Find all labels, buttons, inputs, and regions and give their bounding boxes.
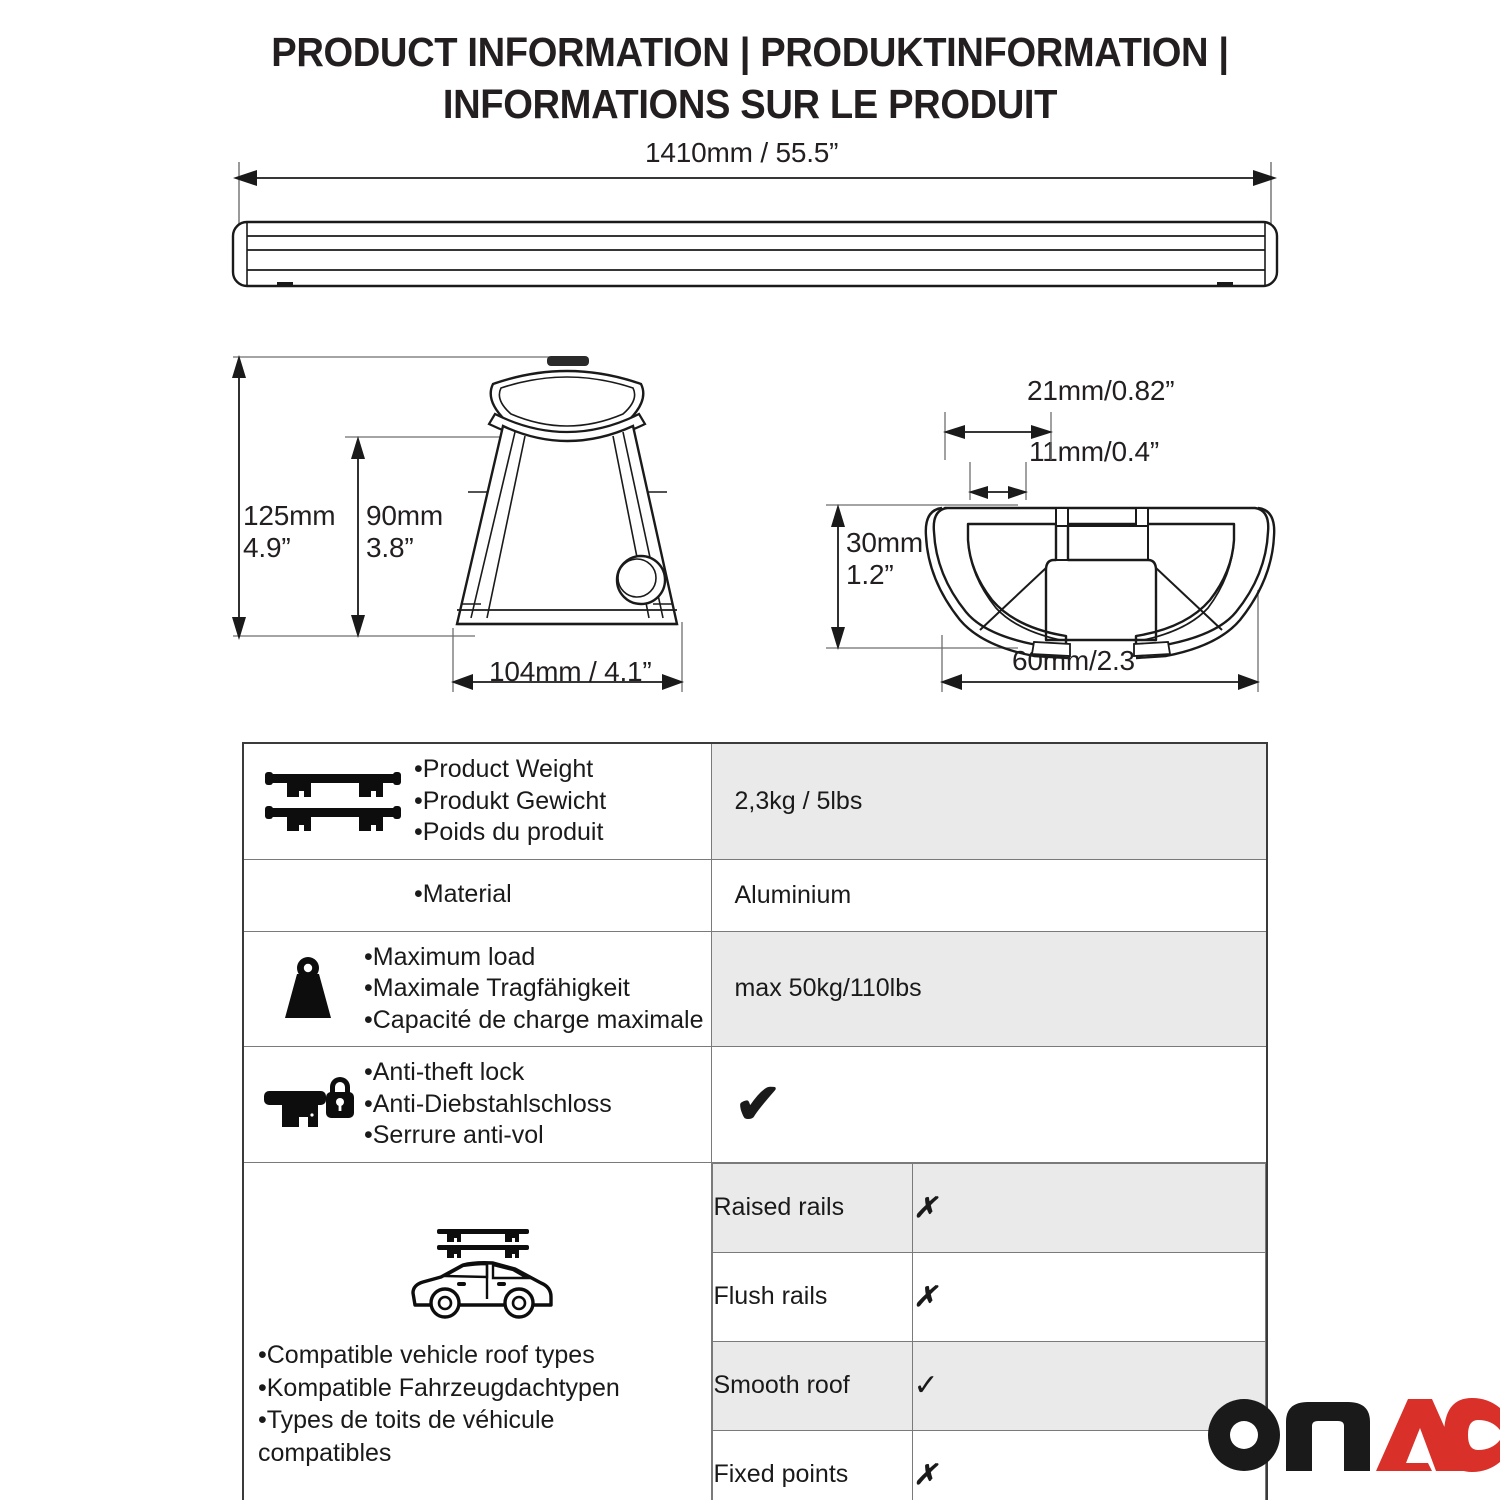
cross-icon: ✗ xyxy=(913,1192,936,1223)
roof-type-row-raised-rails: Raised rails ✗ xyxy=(713,1163,1266,1252)
checkmark-icon: ✓ xyxy=(913,1369,938,1402)
roof-type-label: Raised rails xyxy=(713,1163,913,1252)
roof-type-mark: ✗ xyxy=(913,1252,1266,1341)
cross-icon: ✗ xyxy=(913,1459,936,1490)
roof-bars-icon xyxy=(258,768,408,834)
label-line: •Serrure anti-vol xyxy=(364,1120,703,1152)
label-line: compatibles xyxy=(258,1437,620,1470)
product-spec-table: •Product Weight •Produkt Gewicht •Poids … xyxy=(242,742,1268,1500)
table-row: •Material Aluminium xyxy=(243,859,1267,931)
row-value-anti-theft-lock: ✔ xyxy=(712,1047,1267,1163)
label-line: •Product Weight xyxy=(414,754,703,786)
label-line: •Types de toits de véhicule xyxy=(258,1404,620,1437)
row-label-anti-theft-lock: •Anti-theft lock •Anti-Diebstahlschloss … xyxy=(243,1047,712,1163)
label-line: •Maximum load xyxy=(364,942,703,974)
table-row: •Maximum load •Maximale Tragfähigkeit •C… xyxy=(243,931,1267,1047)
weight-icon xyxy=(258,956,358,1022)
label-line: •Produkt Gewicht xyxy=(414,786,703,818)
title-line-2: INFORMATIONS SUR LE PRODUIT xyxy=(53,78,1448,130)
table-row: •Compatible vehicle roof types •Kompatib… xyxy=(243,1162,1267,1500)
omac-logo-mark xyxy=(1200,1396,1500,1474)
row-label-material: •Material xyxy=(243,859,712,931)
row-value-product-weight: 2,3kg / 5lbs xyxy=(712,743,1267,859)
car-with-roof-bars-icon xyxy=(401,1221,561,1325)
omac-logo xyxy=(1200,1396,1500,1474)
lock-icon xyxy=(258,1075,358,1133)
row-label-product-weight: •Product Weight •Produkt Gewicht •Poids … xyxy=(243,743,712,859)
row-label-text: •Compatible vehicle roof types •Kompatib… xyxy=(258,1339,620,1469)
roof-type-label: Smooth roof xyxy=(713,1341,913,1430)
roof-type-row-flush-rails: Flush rails ✗ xyxy=(713,1252,1266,1341)
row-label-text: •Product Weight •Produkt Gewicht •Poids … xyxy=(414,754,703,849)
logo-letter-m xyxy=(1286,1402,1370,1471)
label-line: •Anti-theft lock xyxy=(364,1057,703,1089)
page-title: PRODUCT INFORMATION | PRODUKTINFORMATION… xyxy=(0,26,1500,131)
table-row: •Anti-theft lock •Anti-Diebstahlschloss … xyxy=(243,1047,1267,1163)
roof-types-subtable: Raised rails ✗ Flush rails ✗ Smooth roof… xyxy=(712,1163,1266,1500)
cross-icon: ✗ xyxy=(913,1281,936,1312)
bar-cross-section-diagram xyxy=(818,400,1288,700)
row-label-text: •Material xyxy=(414,879,703,911)
roof-type-label: Fixed points xyxy=(713,1430,913,1500)
row-value-maximum-load: max 50kg/110lbs xyxy=(712,931,1267,1047)
label-line: •Compatible vehicle roof types xyxy=(258,1339,620,1372)
roof-type-row-fixed-points: Fixed points ✗ xyxy=(713,1430,1266,1500)
roof-type-mark: ✗ xyxy=(913,1163,1266,1252)
row-label-compatible-roof-types: •Compatible vehicle roof types •Kompatib… xyxy=(243,1162,712,1500)
label-line: •Kompatible Fahrzeugdachtypen xyxy=(258,1372,620,1405)
label-line: •Poids du produit xyxy=(414,817,703,849)
label-line: •Material xyxy=(414,879,703,911)
roof-bar-length-diagram xyxy=(225,160,1285,310)
table-row: •Product Weight •Produkt Gewicht •Poids … xyxy=(243,743,1267,859)
logo-letter-c xyxy=(1444,1398,1500,1472)
row-label-text: •Maximum load •Maximale Tragfähigkeit •C… xyxy=(364,942,703,1037)
roof-type-label: Flush rails xyxy=(713,1252,913,1341)
title-line-1: PRODUCT INFORMATION | PRODUKTINFORMATION… xyxy=(53,26,1448,78)
product-information-page: PRODUCT INFORMATION | PRODUKTINFORMATION… xyxy=(0,0,1500,1500)
roof-type-row-smooth-roof: Smooth roof ✓ xyxy=(713,1341,1266,1430)
label-line: •Maximale Tragfähigkeit xyxy=(364,973,703,1005)
logo-letter-o xyxy=(1208,1399,1280,1471)
row-label-maximum-load: •Maximum load •Maximale Tragfähigkeit •C… xyxy=(243,931,712,1047)
label-line: •Anti-Diebstahlschloss xyxy=(364,1089,703,1121)
checkmark-icon: ✔ xyxy=(734,1079,781,1129)
foot-side-view-diagram xyxy=(225,352,715,702)
row-label-text: •Anti-theft lock •Anti-Diebstahlschloss … xyxy=(364,1057,703,1152)
roof-types-subtable-cell: Raised rails ✗ Flush rails ✗ Smooth roof… xyxy=(712,1162,1267,1500)
row-value-material: Aluminium xyxy=(712,859,1267,931)
label-line: •Capacité de charge maximale xyxy=(364,1005,703,1037)
